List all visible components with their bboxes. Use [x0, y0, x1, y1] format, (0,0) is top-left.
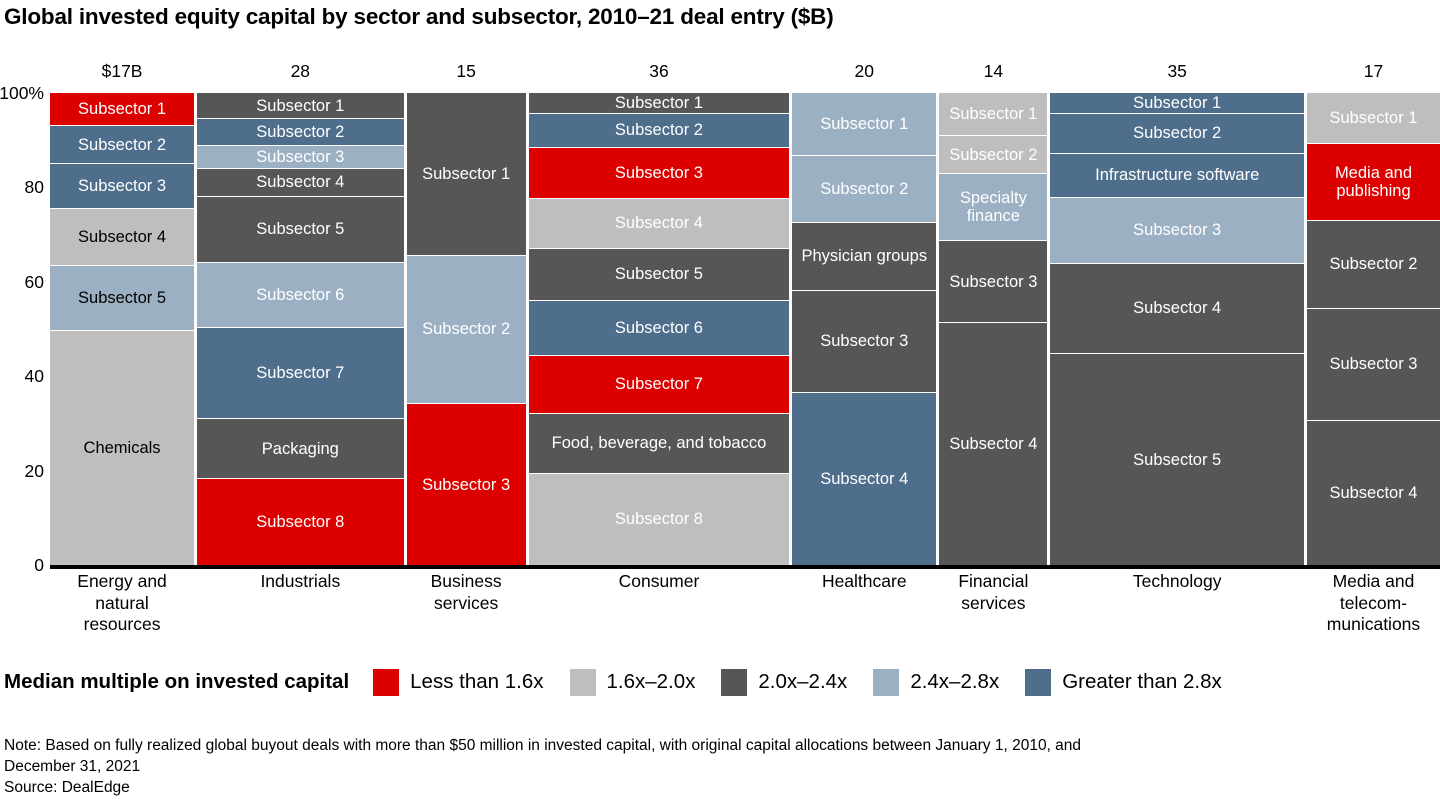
- legend-swatch: [570, 669, 596, 696]
- legend-label: Less than 1.6x: [410, 670, 543, 694]
- column-total-label: 35: [1050, 59, 1304, 83]
- mekko-segment-label: Subsector 8: [612, 510, 706, 528]
- mekko-column: Subsector 1Subsector 2Infrastructure sof…: [1050, 93, 1304, 565]
- column-total-label: 17: [1307, 59, 1440, 83]
- mekko-segment-label: Subsector 4: [817, 470, 911, 488]
- mekko-segment-label: Subsector 2: [253, 123, 347, 141]
- x-axis-label: Businessservices: [397, 571, 536, 614]
- mekko-segment[interactable]: Subsector 1: [50, 93, 194, 125]
- mekko-segment-label: Subsector 4: [75, 228, 169, 246]
- legend-swatch: [721, 669, 747, 696]
- mekko-segment-label: Subsector 4: [1130, 299, 1224, 317]
- mekko-segment-label: Subsector 4: [946, 435, 1040, 453]
- x-axis-label-line: resources: [40, 614, 204, 636]
- column-total-label: 36: [529, 59, 789, 83]
- mekko-segment[interactable]: Subsector 7: [197, 327, 403, 418]
- mekko-segment[interactable]: Subsector 4: [792, 392, 936, 565]
- x-axis-label-line: Technology: [1040, 571, 1314, 593]
- x-axis-label: Media andtelecom-munications: [1297, 571, 1440, 636]
- column-total-label: 15: [407, 59, 526, 83]
- mekko-segment[interactable]: Subsector 2: [939, 135, 1047, 173]
- mekko-segment[interactable]: Subsector 6: [197, 262, 403, 327]
- y-axis-tick: 20: [25, 463, 44, 480]
- x-axis-baseline: [50, 565, 1440, 569]
- x-axis-label-line: natural: [40, 593, 204, 615]
- mekko-segment-label: Subsector 2: [946, 146, 1040, 164]
- mekko-segment[interactable]: Subsector 1: [939, 93, 1047, 135]
- column-total-label: 28: [197, 59, 403, 83]
- footnotes: Note: Based on fully realized global buy…: [4, 735, 1434, 798]
- x-axis-label-line: Energy and: [40, 571, 204, 593]
- mekko-segment-label: Subsector 3: [612, 164, 706, 182]
- mekko-segment-label: Subsector 3: [75, 177, 169, 195]
- mekko-segment-label: Subsector 6: [612, 319, 706, 337]
- legend-item[interactable]: Less than 1.6x: [373, 669, 543, 696]
- y-axis: 100%806040200: [0, 93, 50, 573]
- mekko-column: Subsector 1Subsector 2Physician groupsSu…: [792, 93, 936, 565]
- mekko-segment[interactable]: Subsector 5: [50, 265, 194, 330]
- x-axis-label-line: telecom-: [1297, 593, 1440, 615]
- footnote-line: Note: Based on fully realized global buy…: [4, 735, 1434, 756]
- mekko-segment-label: Subsector 1: [612, 95, 706, 111]
- mekko-segment[interactable]: Subsector 3: [529, 147, 789, 198]
- column-total-label: $17B: [50, 59, 194, 83]
- mekko-segment[interactable]: Subsector 2: [529, 113, 789, 147]
- mekko-segment-label: Chemicals: [81, 439, 164, 457]
- mekko-segment[interactable]: Subsector 3: [792, 290, 936, 392]
- mekko-segment-label: Subsector 1: [817, 115, 911, 133]
- mekko-column: Subsector 1Subsector 2Specialty financeS…: [939, 93, 1047, 565]
- legend-title: Median multiple on invested capital: [4, 670, 349, 694]
- mekko-column: Subsector 1Media and publishingSubsector…: [1307, 93, 1440, 565]
- mekko-segment-label: Subsector 7: [253, 364, 347, 382]
- mekko-segment-label: Subsector 3: [1326, 355, 1420, 373]
- mekko-segment-label: Subsector 1: [75, 100, 169, 118]
- mekko-column: Subsector 1Subsector 2Subsector 3Subsect…: [197, 93, 403, 565]
- mekko-segment-label: Subsector 4: [253, 173, 347, 191]
- mekko-segment[interactable]: Subsector 2: [50, 125, 194, 163]
- legend-label: 2.4x–2.8x: [910, 670, 999, 694]
- mekko-segment-label: Infrastructure software: [1092, 166, 1262, 184]
- mekko-segment[interactable]: Food, beverage, and tobacco: [529, 413, 789, 473]
- y-axis-tick: 100%: [0, 85, 44, 102]
- column-totals-row: $17B28153620143517: [50, 59, 1440, 87]
- x-axis-label: Consumer: [519, 571, 799, 593]
- mekko-segment-label: Subsector 1: [946, 105, 1040, 123]
- mekko-segment[interactable]: Media and publishing: [1307, 143, 1440, 220]
- chart-page: Global invested equity capital by sector…: [0, 0, 1440, 810]
- mekko-segment[interactable]: Subsector 4: [197, 168, 403, 196]
- mekko-segment-label: Subsector 5: [612, 265, 706, 283]
- mekko-segment-label: Subsector 2: [419, 320, 513, 338]
- mekko-segment[interactable]: Subsector 3: [1050, 197, 1304, 263]
- mekko-segment-label: Subsector 1: [419, 165, 513, 183]
- marimekko-plot: Subsector 1Subsector 2Subsector 3Subsect…: [50, 93, 1440, 565]
- mekko-segment[interactable]: Subsector 1: [197, 93, 403, 118]
- mekko-segment[interactable]: Subsector 1: [407, 93, 526, 255]
- x-axis-labels: Energy andnaturalresourcesIndustrialsBus…: [50, 571, 1440, 641]
- mekko-segment[interactable]: Subsector 8: [197, 478, 403, 565]
- legend-items: Less than 1.6x1.6x–2.0x2.0x–2.4x2.4x–2.8…: [373, 669, 1248, 696]
- column-total-label: 20: [792, 59, 936, 83]
- page-title: Global invested equity capital by sector…: [4, 4, 834, 30]
- mekko-segment[interactable]: Subsector 2: [1307, 220, 1440, 308]
- column-total-label: 14: [939, 59, 1047, 83]
- mekko-segment-label: Subsector 7: [612, 375, 706, 393]
- x-axis-label-line: Healthcare: [782, 571, 946, 593]
- mekko-segment[interactable]: Subsector 7: [529, 355, 789, 413]
- legend-item[interactable]: 2.0x–2.4x: [721, 669, 847, 696]
- mekko-segment-label: Subsector 5: [253, 220, 347, 238]
- x-axis-label: Industrials: [187, 571, 413, 593]
- mekko-segment-label: Subsector 1: [1130, 95, 1224, 111]
- mekko-segment-label: Subsector 3: [253, 148, 347, 166]
- mekko-segment-label: Subsector 8: [253, 513, 347, 531]
- mekko-segment[interactable]: Subsector 1: [529, 93, 789, 113]
- x-axis-label-line: Business: [397, 571, 536, 593]
- mekko-column: Subsector 1Subsector 2Subsector 3: [407, 93, 526, 565]
- mekko-segment[interactable]: Subsector 2: [792, 155, 936, 222]
- x-axis-label-line: services: [397, 593, 536, 615]
- y-axis-tick: 60: [25, 274, 44, 291]
- mekko-segment[interactable]: Subsector 2: [407, 255, 526, 403]
- x-axis-label-line: Financial: [929, 571, 1057, 593]
- mekko-segment[interactable]: Subsector 3: [1307, 308, 1440, 420]
- mekko-segment-label: Physician groups: [798, 247, 930, 265]
- mekko-segment[interactable]: Subsector 3: [197, 145, 403, 168]
- mekko-segment[interactable]: Subsector 1: [792, 93, 936, 155]
- mekko-segment-label: Specialty finance: [939, 189, 1047, 225]
- mekko-segment-label: Subsector 4: [612, 214, 706, 232]
- legend-swatch: [1025, 669, 1051, 696]
- mekko-segment[interactable]: Infrastructure software: [1050, 153, 1304, 197]
- mekko-segment-label: Subsector 2: [1130, 124, 1224, 142]
- x-axis-label-line: Industrials: [187, 571, 413, 593]
- x-axis-label: Financialservices: [929, 571, 1057, 614]
- legend: Median multiple on invested capital Less…: [4, 660, 1440, 704]
- mekko-segment-label: Subsector 2: [612, 121, 706, 139]
- mekko-column: Subsector 1Subsector 2Subsector 3Subsect…: [529, 93, 789, 565]
- mekko-segment[interactable]: Subsector 4: [1307, 420, 1440, 565]
- mekko-segment-label: Packaging: [259, 440, 342, 458]
- mekko-segment[interactable]: Subsector 2: [197, 118, 403, 145]
- mekko-segment[interactable]: Subsector 3: [407, 403, 526, 565]
- mekko-segment[interactable]: Subsector 2: [1050, 113, 1304, 153]
- mekko-segment[interactable]: Subsector 4: [1050, 263, 1304, 353]
- x-axis-label: Technology: [1040, 571, 1314, 593]
- mekko-segment-label: Food, beverage, and tobacco: [549, 434, 770, 452]
- mekko-segment-label: Media and publishing: [1307, 164, 1440, 200]
- mekko-segment[interactable]: Subsector 5: [197, 196, 403, 262]
- mekko-segment[interactable]: Subsector 6: [529, 300, 789, 355]
- mekko-segment[interactable]: Subsector 1: [1307, 93, 1440, 143]
- mekko-segment[interactable]: Subsector 3: [50, 163, 194, 208]
- mekko-segment-label: Subsector 2: [75, 136, 169, 154]
- x-axis-label-line: Consumer: [519, 571, 799, 593]
- mekko-segment-label: Subsector 3: [817, 332, 911, 350]
- legend-label: 1.6x–2.0x: [607, 670, 696, 694]
- y-axis-tick: 80: [25, 179, 44, 196]
- mekko-segment[interactable]: Subsector 8: [529, 473, 789, 565]
- x-axis-label-line: services: [929, 593, 1057, 615]
- mekko-segment[interactable]: Subsector 4: [939, 322, 1047, 565]
- mekko-segment[interactable]: Specialty finance: [939, 173, 1047, 240]
- mekko-segment-label: Subsector 3: [419, 476, 513, 494]
- legend-swatch: [373, 669, 399, 696]
- legend-label: 2.0x–2.4x: [758, 670, 847, 694]
- legend-item[interactable]: 2.4x–2.8x: [873, 669, 999, 696]
- footnote-line: Source: DealEdge: [4, 777, 1434, 798]
- mekko-segment[interactable]: Packaging: [197, 418, 403, 478]
- mekko-segment[interactable]: Subsector 1: [1050, 93, 1304, 113]
- mekko-segment[interactable]: Subsector 5: [1050, 353, 1304, 565]
- mekko-segment[interactable]: Physician groups: [792, 222, 936, 290]
- legend-item[interactable]: 1.6x–2.0x: [570, 669, 696, 696]
- legend-swatch: [873, 669, 899, 696]
- mekko-segment-label: Subsector 5: [1130, 451, 1224, 469]
- x-axis-label-line: munications: [1297, 614, 1440, 636]
- footnote-line: December 31, 2021: [4, 756, 1434, 777]
- mekko-segment-label: Subsector 6: [253, 286, 347, 304]
- x-axis-label: Energy andnaturalresources: [40, 571, 204, 636]
- y-axis-tick: 40: [25, 368, 44, 385]
- mekko-segment-label: Subsector 4: [1326, 484, 1420, 502]
- mekko-segment-label: Subsector 1: [1326, 109, 1420, 127]
- x-axis-label: Healthcare: [782, 571, 946, 593]
- mekko-segment-label: Subsector 3: [946, 273, 1040, 291]
- mekko-column: Subsector 1Subsector 2Subsector 3Subsect…: [50, 93, 194, 565]
- mekko-segment-label: Subsector 3: [1130, 221, 1224, 239]
- mekko-segment[interactable]: Subsector 3: [939, 240, 1047, 322]
- mekko-segment[interactable]: Subsector 5: [529, 248, 789, 300]
- mekko-segment-label: Subsector 5: [75, 289, 169, 307]
- mekko-segment-label: Subsector 1: [253, 97, 347, 115]
- legend-label: Greater than 2.8x: [1062, 670, 1222, 694]
- mekko-segment[interactable]: Chemicals: [50, 330, 194, 565]
- x-axis-label-line: Media and: [1297, 571, 1440, 593]
- mekko-segment[interactable]: Subsector 4: [50, 208, 194, 265]
- mekko-segment[interactable]: Subsector 4: [529, 198, 789, 248]
- mekko-segment-label: Subsector 2: [817, 180, 911, 198]
- mekko-segment-label: Subsector 2: [1326, 255, 1420, 273]
- legend-item[interactable]: Greater than 2.8x: [1025, 669, 1222, 696]
